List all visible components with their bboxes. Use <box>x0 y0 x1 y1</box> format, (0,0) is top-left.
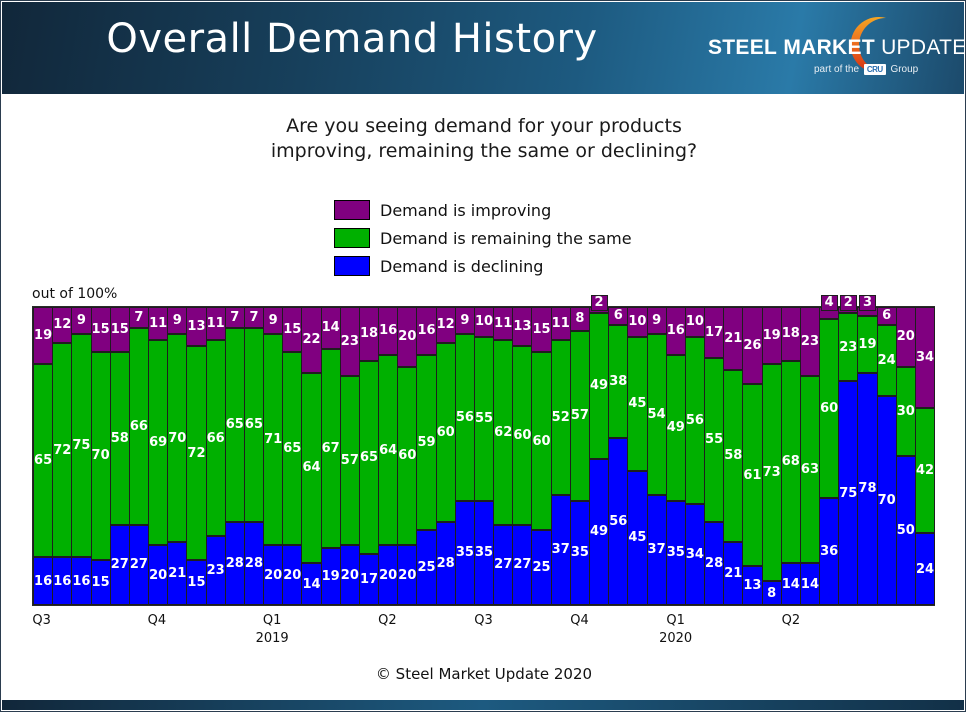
bar-segment-improving: 12 <box>437 307 455 343</box>
bar-segment-same: 72 <box>53 343 71 558</box>
bar-column[interactable]: 76627 <box>129 307 149 605</box>
bar-column[interactable]: 127216 <box>52 307 72 605</box>
legend-label-same: Demand is remaining the same <box>380 229 632 248</box>
bar-segment-value: 8 <box>575 312 584 325</box>
bar-segment-value: 49 <box>590 379 608 392</box>
bar-segment-value: 64 <box>302 461 320 474</box>
bar-segment-value: 17 <box>705 326 723 339</box>
bar-segment-same: 65 <box>245 328 263 522</box>
bar-column[interactable]: 116920 <box>148 307 168 605</box>
bar-segment-improving: 15 <box>111 307 129 352</box>
bar-column[interactable]: 46036 <box>819 307 839 605</box>
bar-segment-value: 57 <box>341 454 359 467</box>
bar-segment-value: 13 <box>743 579 761 592</box>
bar-segment-value: 14 <box>322 321 340 334</box>
bar-segment-improving: 7 <box>245 307 263 328</box>
x-axis-tick-quarter: Q4 <box>148 613 167 628</box>
bar-segment-declining: 37 <box>648 495 666 605</box>
logo-tagline: part of the CRU Group <box>814 64 918 75</box>
bar-segment-value: 17 <box>360 573 378 586</box>
bar-segment-declining: 25 <box>532 530 550 605</box>
x-axis-tick: Q4 <box>570 613 589 628</box>
bar-segment-same: 55 <box>705 358 723 522</box>
bar-column[interactable]: 137215 <box>186 307 206 605</box>
bar-segment-improving: 14 <box>322 307 340 349</box>
bar-segment-value: 19 <box>322 570 340 583</box>
bar-segment-improving: 18 <box>360 307 378 361</box>
bar-segment-value: 30 <box>897 405 915 418</box>
x-axis-tick-quarter: Q3 <box>32 613 51 628</box>
bar-segment-declining: 28 <box>226 522 244 605</box>
bar-segment-improving: 9 <box>264 307 282 334</box>
bar-column[interactable]: 105634 <box>685 307 705 605</box>
bar-segment-value: 63 <box>801 463 819 476</box>
legend-swatch-same <box>334 228 370 248</box>
bar-segment-declining: 35 <box>475 501 493 605</box>
bar-segment-value: 20 <box>398 330 416 343</box>
bar-segment-value: 58 <box>111 432 129 445</box>
bar-segment-value: 35 <box>667 546 685 559</box>
bar-segment-value: 27 <box>130 558 148 571</box>
bar-column[interactable]: 24949 <box>589 307 609 605</box>
x-axis-tick-quarter: Q1 <box>256 613 289 628</box>
bar-segment-value: 37 <box>552 543 570 556</box>
bar-segment-value: 16 <box>34 575 52 588</box>
bar-column[interactable]: 206020 <box>397 307 417 605</box>
bar-column[interactable]: 105535 <box>474 307 494 605</box>
legend-swatch-declining <box>334 256 370 276</box>
bar-segment-declining: 35 <box>456 501 474 605</box>
bar-segment-declining: 27 <box>130 525 148 605</box>
bar-column[interactable]: 175528 <box>704 307 724 605</box>
bar-segment-improving: 15 <box>532 307 550 352</box>
bar-segment-value: 12 <box>53 318 71 331</box>
bar-segment-same: 61 <box>743 384 761 566</box>
bar-segment-declining: 25 <box>417 530 435 605</box>
bar-segment-improving: 9 <box>72 307 90 334</box>
logo-word-update: UPDATE <box>881 36 964 59</box>
bar-segment-same: 73 <box>763 364 781 582</box>
bar-column[interactable]: 166420 <box>378 307 398 605</box>
bar-segment-value: 24 <box>916 563 934 576</box>
bar-segment-declining: 16 <box>34 557 52 605</box>
bar-segment-same: 42 <box>916 408 934 533</box>
legend-label-declining: Demand is declining <box>380 257 543 276</box>
bar-segment-declining: 16 <box>72 557 90 605</box>
bar-segment-value: 65 <box>226 418 244 431</box>
bar-segment-value: 2 <box>840 295 857 311</box>
bar-column[interactable]: 236314 <box>800 307 820 605</box>
bar-segment-value: 15 <box>533 323 551 336</box>
bar-segment-value: 11 <box>494 317 512 330</box>
x-axis-tick: Q12019 <box>256 613 289 646</box>
bar-column[interactable]: 266113 <box>742 307 762 605</box>
bar-segment-same: 70 <box>168 334 186 543</box>
bar-column[interactable]: 95635 <box>455 307 475 605</box>
bar-segment-value: 23 <box>207 564 225 577</box>
bar-segment-value: 8 <box>767 587 776 600</box>
bar-segment-value: 15 <box>187 576 205 589</box>
bar-segment-declining: 28 <box>245 522 263 605</box>
bar-segment-same: 52 <box>552 340 570 495</box>
bar-segment-value: 15 <box>111 323 129 336</box>
bar-segment-value: 20 <box>398 569 416 582</box>
bar-segment-value: 23 <box>839 341 857 354</box>
bar-segment-value: 35 <box>456 546 474 559</box>
bar-segment-value: 16 <box>417 324 435 337</box>
bar-column[interactable]: 116227 <box>493 307 513 605</box>
bar-segment-same: 60 <box>398 367 416 546</box>
bar-segment-value: 14 <box>801 578 819 591</box>
logo-word-steel: STEEL <box>708 36 777 59</box>
bar-segment-value: 20 <box>897 330 915 343</box>
bar-column[interactable]: 104545 <box>627 307 647 605</box>
bar-segment-declining: 35 <box>571 501 589 605</box>
bar-segment-value: 10 <box>475 315 493 328</box>
bar-segment-same: 56 <box>456 334 474 501</box>
bar-segment-declining: 50 <box>897 456 915 605</box>
bar-segment-improving: 15 <box>92 307 110 352</box>
bar-segment-value: 69 <box>149 436 167 449</box>
bar-segment-value: 16 <box>53 575 71 588</box>
bar-segment-declining: 27 <box>111 525 129 605</box>
bar-segment-same: 58 <box>111 352 129 525</box>
bar-column[interactable]: 136027 <box>512 307 532 605</box>
logo-word-market: MARKET <box>783 36 875 59</box>
bar-segment-declining: 36 <box>820 498 838 605</box>
bar-segment-value: 66 <box>130 420 148 433</box>
bar-segment-value: 21 <box>724 332 742 345</box>
bar-column[interactable]: 235720 <box>340 307 360 605</box>
bar-segment-same: 19 <box>858 316 876 373</box>
x-axis-tick-quarter: Q2 <box>378 613 397 628</box>
bar-column[interactable]: 155827 <box>110 307 130 605</box>
bar-segment-value: 27 <box>494 558 512 571</box>
bar-segment-improving: 11 <box>149 307 167 340</box>
bar-segment-value: 16 <box>379 324 397 337</box>
bar-segment-declining: 8 <box>763 581 781 605</box>
bar-segment-value: 20 <box>149 569 167 582</box>
legend-swatch-improving <box>334 200 370 220</box>
bar-segment-same: 66 <box>207 340 225 537</box>
bar-segment-improving: 7 <box>130 307 148 328</box>
bar-segment-improving: 16 <box>417 307 435 355</box>
x-axis-tick: Q4 <box>148 613 167 628</box>
bar-segment-declining: 28 <box>705 522 723 605</box>
bar-segment-same: 68 <box>782 361 800 564</box>
bar-segment-same: 30 <box>897 367 915 456</box>
bar-segment-value: 24 <box>878 354 896 367</box>
bar-segment-same: 60 <box>437 343 455 522</box>
bar-column[interactable]: 95437 <box>647 307 667 605</box>
bar-segment-value: 45 <box>628 397 646 410</box>
bar-segment-improving: 9 <box>456 307 474 334</box>
bar-segment-improving: 4 <box>820 307 838 319</box>
bar-segment-value: 28 <box>437 557 455 570</box>
bar-segment-value: 61 <box>743 469 761 482</box>
bar-segment-value: 23 <box>341 335 359 348</box>
bar-segment-value: 9 <box>460 314 469 327</box>
bar-segment-improving: 18 <box>782 307 800 361</box>
bar-column[interactable]: 156520 <box>282 307 302 605</box>
bar-segment-value: 19 <box>34 329 52 342</box>
x-axis-tick: Q3 <box>32 613 51 628</box>
bar-segment-declining: 14 <box>801 563 819 605</box>
bar-segment-value: 19 <box>858 338 876 351</box>
bar-segment-value: 11 <box>552 317 570 330</box>
bar-segment-value: 52 <box>552 411 570 424</box>
bar-segment-value: 75 <box>72 439 90 452</box>
bar-segment-improving: 10 <box>628 307 646 337</box>
bar-segment-value: 54 <box>648 408 666 421</box>
bar-segment-declining: 15 <box>92 560 110 605</box>
bar-column[interactable]: 157015 <box>91 307 111 605</box>
bar-segment-value: 45 <box>628 531 646 544</box>
cru-group-chip: CRU <box>864 64 886 75</box>
bar-segment-declining: 19 <box>322 548 340 605</box>
bar-segment-same: 24 <box>878 325 896 397</box>
bar-segment-value: 70 <box>92 449 110 462</box>
bar-segment-value: 13 <box>513 320 531 333</box>
chart-title-line-2: improving, remaining the same or declini… <box>1 139 966 164</box>
bar-segment-same: 49 <box>590 313 608 459</box>
bar-column[interactable]: 116623 <box>206 307 226 605</box>
bar-segment-improving: 22 <box>302 307 320 373</box>
bar-segment-improving: 26 <box>743 307 761 384</box>
bar-segment-declining: 20 <box>149 545 167 605</box>
bar-segment-value: 68 <box>782 455 800 468</box>
bar-segment-value: 71 <box>264 433 282 446</box>
bar-column[interactable]: 146719 <box>321 307 341 605</box>
bar-segment-improving: 10 <box>475 307 493 337</box>
bar-segment-improving: 13 <box>187 307 205 346</box>
bar-segment-value: 75 <box>839 487 857 500</box>
logo-tagline-pre: part of the <box>814 64 859 75</box>
bar-segment-improving: 10 <box>686 307 704 337</box>
bar-segment-declining: 78 <box>858 373 876 605</box>
bar-column[interactable]: 196516 <box>33 307 53 605</box>
legend-item-same[interactable]: Demand is remaining the same <box>334 225 634 251</box>
bar-segment-value: 73 <box>763 466 781 479</box>
logo-tagline-post: Group <box>890 64 918 75</box>
bar-segment-declining: 20 <box>264 545 282 605</box>
bar-segment-declining: 20 <box>341 545 359 605</box>
bar-segment-value: 9 <box>77 314 86 327</box>
bar-segment-value: 11 <box>207 317 225 330</box>
bar-segment-value: 60 <box>820 402 838 415</box>
bar-segment-value: 66 <box>207 432 225 445</box>
bar-segment-value: 56 <box>686 414 704 427</box>
bar-segment-same: 54 <box>648 334 666 495</box>
bar-segment-value: 28 <box>226 557 244 570</box>
bar-segment-value: 49 <box>667 421 685 434</box>
bar-column[interactable]: 97516 <box>71 307 91 605</box>
slide-root: Overall Demand History STEEL MARKET UPDA… <box>0 0 966 712</box>
bar-segment-declining: 70 <box>878 396 896 605</box>
bar-segment-declining: 34 <box>686 504 704 605</box>
bar-segment-same: 60 <box>532 352 550 531</box>
chart-title: Are you seeing demand for your products … <box>1 114 966 164</box>
bar-segment-improving: 8 <box>571 307 589 331</box>
bar-segment-value: 59 <box>417 436 435 449</box>
bar-segment-improving: 23 <box>341 307 359 376</box>
bar-segment-same: 57 <box>341 376 359 546</box>
bar-segment-value: 7 <box>134 311 143 324</box>
bar-segment-improving: 15 <box>283 307 301 352</box>
legend-item-declining[interactable]: Demand is declining <box>334 253 634 279</box>
bar-segment-improving: 11 <box>552 307 570 340</box>
bar-segment-value: 28 <box>245 557 263 570</box>
bar-segment-value: 50 <box>897 524 915 537</box>
bar-column[interactable]: 85735 <box>570 307 590 605</box>
bar-segment-value: 26 <box>743 339 761 352</box>
bar-segment-declining: 21 <box>724 542 742 605</box>
bar-segment-value: 28 <box>705 557 723 570</box>
bar-segment-declining: 37 <box>552 495 570 605</box>
bar-column[interactable]: 19738 <box>762 307 782 605</box>
bar-segment-improving: 13 <box>513 307 531 346</box>
bar-column[interactable]: 344224 <box>915 307 935 605</box>
bar-segment-value: 72 <box>53 444 71 457</box>
bar-column[interactable]: 126028 <box>436 307 456 605</box>
logo-wordmark: STEEL MARKET UPDATE <box>708 36 964 60</box>
copyright-text: © Steel Market Update 2020 <box>1 665 966 683</box>
bar-segment-improving: 16 <box>667 307 685 355</box>
bar-column[interactable]: 203050 <box>896 307 916 605</box>
bar-segment-declining: 56 <box>609 438 627 605</box>
bar-segment-value: 13 <box>187 320 205 333</box>
bar-segment-same: 63 <box>801 376 819 564</box>
bar-segment-value: 60 <box>533 435 551 448</box>
bar-segment-value: 4 <box>821 295 838 311</box>
bar-segment-declining: 14 <box>782 563 800 605</box>
page-title: Overall Demand History <box>2 16 702 62</box>
bar-segment-same: 75 <box>72 334 90 558</box>
bar-column[interactable]: 97021 <box>167 307 187 605</box>
bar-column[interactable]: 164935 <box>666 307 686 605</box>
bar-column[interactable]: 76528 <box>225 307 245 605</box>
bar-column[interactable]: 31978 <box>857 307 877 605</box>
bar-segment-value: 21 <box>724 567 742 580</box>
bar-segment-value: 72 <box>187 447 205 460</box>
bar-segment-value: 55 <box>705 433 723 446</box>
bar-column[interactable]: 63856 <box>608 307 628 605</box>
bar-segment-same: 23 <box>839 313 857 382</box>
bar-column[interactable]: 215821 <box>723 307 743 605</box>
bar-segment-value: 70 <box>168 432 186 445</box>
bar-segment-value: 34 <box>686 548 704 561</box>
bar-column[interactable]: 76528 <box>244 307 264 605</box>
bar-segment-improving: 34 <box>916 307 934 408</box>
bar-segment-same: 70 <box>92 352 110 561</box>
bar-segment-declining: 35 <box>667 501 685 605</box>
bar-column[interactable]: 186517 <box>359 307 379 605</box>
bar-segment-value: 65 <box>283 442 301 455</box>
bar-segment-value: 65 <box>360 451 378 464</box>
bar-segment-improving: 17 <box>705 307 723 358</box>
bar-segment-declining: 23 <box>207 536 225 605</box>
bar-segment-value: 60 <box>513 429 531 442</box>
bar-segment-declining: 14 <box>302 563 320 605</box>
bar-column[interactable]: 226414 <box>301 307 321 605</box>
bar-column[interactable]: 165925 <box>416 307 436 605</box>
bar-segment-declining: 17 <box>360 554 378 605</box>
bar-segment-value: 56 <box>456 411 474 424</box>
bar-segment-value: 27 <box>111 558 129 571</box>
bar-segment-same: 72 <box>187 346 205 561</box>
bar-segment-declining: 16 <box>53 557 71 605</box>
bar-segment-value: 20 <box>379 569 397 582</box>
bar-segment-value: 14 <box>302 578 320 591</box>
bar-segment-value: 16 <box>667 324 685 337</box>
bar-segment-declining: 27 <box>494 525 512 605</box>
bar-segment-declining: 13 <box>743 566 761 605</box>
header-banner: Overall Demand History STEEL MARKET UPDA… <box>2 2 964 94</box>
bar-segment-value: 38 <box>609 375 627 388</box>
bar-segment-value: 9 <box>652 314 661 327</box>
bar-column[interactable]: 156025 <box>531 307 551 605</box>
bar-segment-same: 62 <box>494 340 512 525</box>
x-axis-tick-quarter: Q1 <box>659 613 692 628</box>
footer-bar <box>2 700 964 710</box>
bar-segment-value: 7 <box>230 311 239 324</box>
bar-segment-same: 65 <box>34 364 52 558</box>
bar-segment-value: 2 <box>591 295 608 311</box>
bar-segment-improving: 19 <box>34 307 52 364</box>
bar-segment-value: 65 <box>245 418 263 431</box>
bar-segment-value: 14 <box>782 578 800 591</box>
x-axis-tick-year: 2020 <box>659 631 692 646</box>
bar-segment-same: 60 <box>513 346 531 525</box>
bar-segment-declining: 20 <box>379 545 397 605</box>
x-axis-tick-quarter: Q3 <box>474 613 493 628</box>
bar-segment-same: 65 <box>360 361 378 555</box>
bar-segment-value: 42 <box>916 464 934 477</box>
chart-legend: Demand is improvingDemand is remaining t… <box>1 197 966 279</box>
bar-segment-improving: 6 <box>609 307 627 325</box>
bar-segment-value: 9 <box>269 314 278 327</box>
bar-column[interactable]: 186814 <box>781 307 801 605</box>
bar-segment-value: 64 <box>379 444 397 457</box>
x-axis-tick-year: 2019 <box>256 631 289 646</box>
axis-note: out of 100% <box>32 286 117 302</box>
x-axis-tick: Q12020 <box>659 613 692 646</box>
bar-segment-same: 69 <box>149 340 167 546</box>
bar-segment-same: 49 <box>667 355 685 501</box>
bar-segment-value: 15 <box>283 323 301 336</box>
bar-segment-value: 10 <box>628 315 646 328</box>
bar-column[interactable]: 115237 <box>551 307 571 605</box>
bar-segment-value: 60 <box>398 449 416 462</box>
bar-segment-value: 49 <box>590 525 608 538</box>
x-axis-labels: Q3Q4Q12019Q2Q3Q4Q12020Q2 <box>32 613 935 657</box>
bar-segment-value: 58 <box>724 449 742 462</box>
bar-segment-same: 65 <box>226 328 244 522</box>
legend-item-improving[interactable]: Demand is improving <box>334 197 634 223</box>
x-axis-tick: Q2 <box>782 613 801 628</box>
bar-segment-value: 3 <box>859 295 876 311</box>
bar-column[interactable]: 62470 <box>877 307 897 605</box>
bar-segment-value: 35 <box>571 546 589 559</box>
bar-segment-declining: 27 <box>513 525 531 605</box>
bar-segment-value: 67 <box>322 442 340 455</box>
bar-segment-declining: 21 <box>168 542 186 605</box>
bar-segment-value: 78 <box>858 482 876 495</box>
bar-column[interactable]: 97120 <box>263 307 283 605</box>
bar-segment-improving: 23 <box>801 307 819 376</box>
bar-column[interactable]: 22375 <box>838 307 858 605</box>
bar-segment-declining: 20 <box>398 545 416 605</box>
